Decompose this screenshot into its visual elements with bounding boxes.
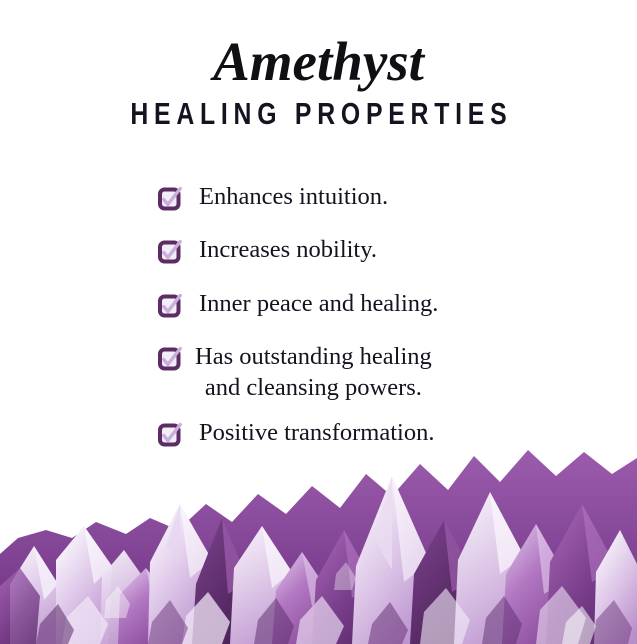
page-subtitle: HEALING PROPERTIES xyxy=(64,89,574,129)
checked-checkbox-icon xyxy=(158,423,181,447)
checked-checkbox-icon xyxy=(158,347,181,371)
list-item: Has outstanding healing and cleansing po… xyxy=(0,341,637,404)
list-item-label: Inner peace and healing. xyxy=(199,288,438,319)
healing-properties-list: Enhances intuition. Increases nobility. … xyxy=(0,181,637,470)
checked-checkbox-icon xyxy=(158,240,181,264)
page-title: Amethyst xyxy=(0,0,637,89)
list-item: Enhances intuition. xyxy=(0,181,637,212)
poster-header: Amethyst HEALING PROPERTIES xyxy=(0,0,637,129)
checked-checkbox-icon xyxy=(158,187,181,211)
list-item: Inner peace and healing. xyxy=(0,288,637,319)
list-item-label: Enhances intuition. xyxy=(199,181,388,212)
list-item-label: Positive transformation. xyxy=(199,417,434,448)
list-item-label: Has outstanding healing and cleansing po… xyxy=(195,341,432,404)
amethyst-healing-properties-poster: Amethyst HEALING PROPERTIES Enhances int… xyxy=(0,0,637,644)
list-item: Positive transformation. xyxy=(0,417,637,448)
list-item: Increases nobility. xyxy=(0,234,637,265)
list-item-label: Increases nobility. xyxy=(199,234,377,265)
checked-checkbox-icon xyxy=(158,294,181,318)
